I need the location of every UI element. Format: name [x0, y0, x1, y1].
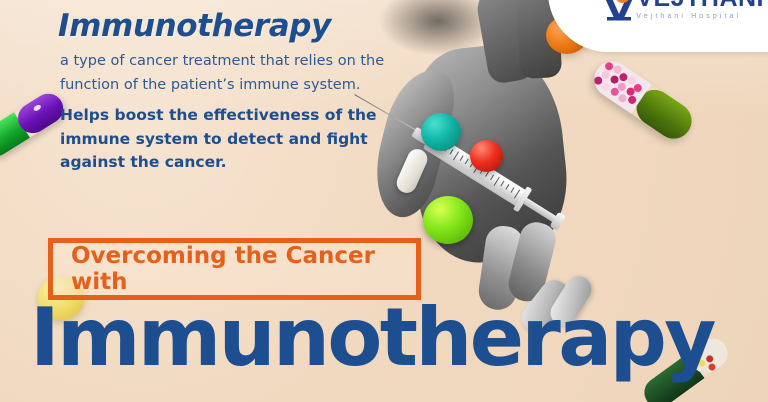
pill-teal	[421, 113, 461, 151]
callout-text: Overcoming the Cancer with	[71, 243, 416, 295]
pill-red	[470, 140, 503, 172]
big-title: Immunotherapy	[30, 298, 714, 378]
logo-panel: VEJTHANI Vejthani Hospital	[548, 0, 768, 52]
logo-text: VEJTHANI Vejthani Hospital	[636, 0, 764, 21]
logo-name: VEJTHANI	[636, 0, 764, 11]
vejthani-logo[interactable]: VEJTHANI Vejthani Hospital	[602, 0, 764, 21]
logo-mark	[602, 0, 636, 21]
benefit-text: Helps boost the effectiveness of the imm…	[60, 104, 390, 175]
logo-subtitle: Vejthani Hospital	[636, 13, 741, 20]
immunotherapy-banner: VEJTHANI Vejthani Hospital Immunotherapy…	[0, 0, 768, 402]
letter-v-shape-icon	[602, 0, 636, 21]
page-title: Immunotherapy	[58, 8, 331, 44]
pill-green	[423, 196, 473, 244]
definition-text: a type of cancer treatment that relies o…	[60, 50, 405, 97]
